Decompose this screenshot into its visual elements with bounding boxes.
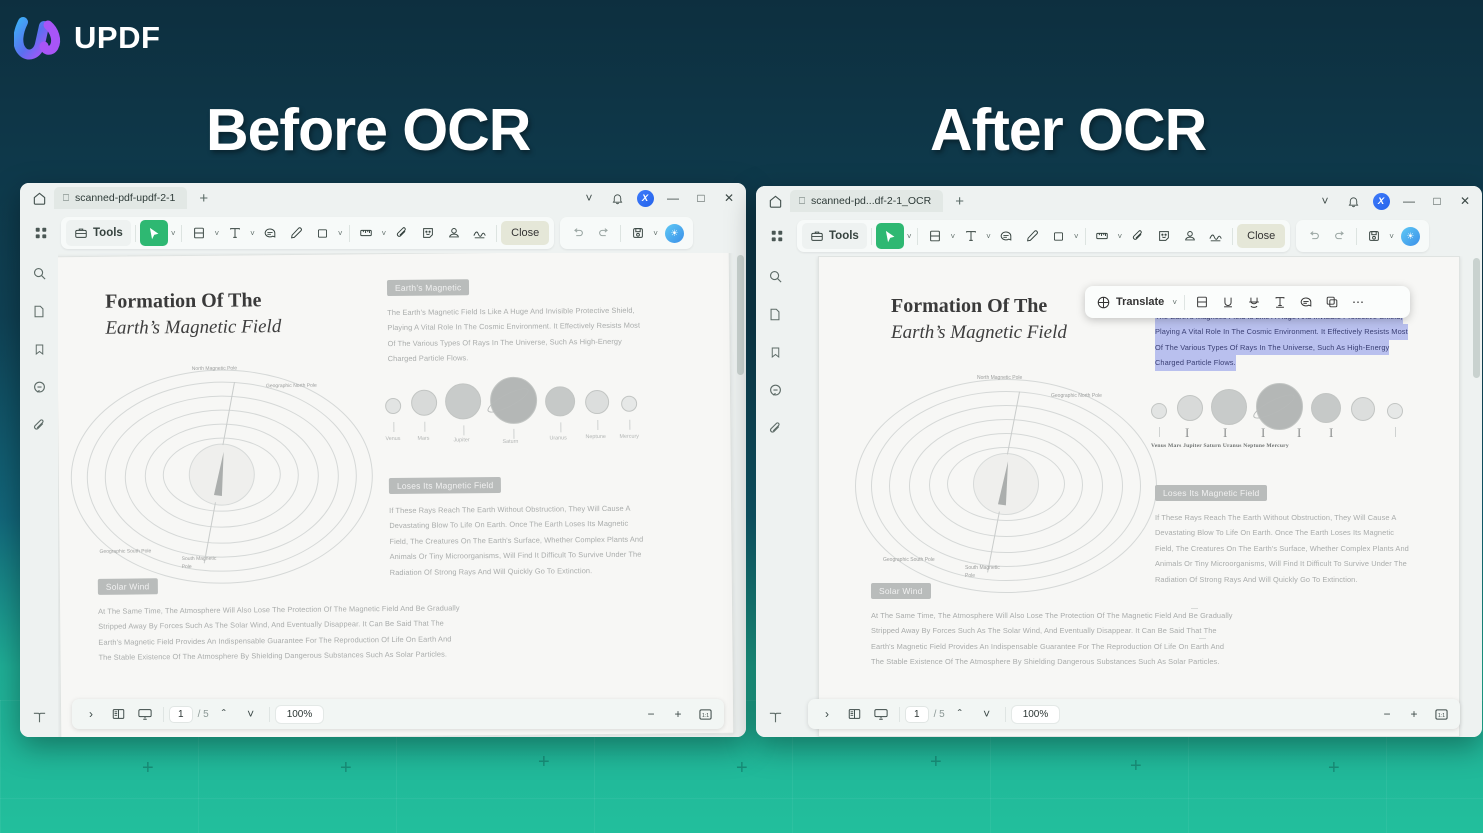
planet-label: Jupiter bbox=[453, 437, 469, 443]
window-controls: ˅ X — □ ✕ bbox=[1312, 189, 1478, 213]
planet-label: Mercury bbox=[619, 434, 639, 440]
strikethrough-button[interactable] bbox=[1242, 290, 1266, 314]
doc-title-line1: Formation Of The bbox=[891, 295, 1067, 318]
stamp-tool-button[interactable] bbox=[1177, 223, 1202, 249]
page-number-input[interactable]: 1 bbox=[906, 707, 928, 722]
measure-tool-button[interactable] bbox=[1090, 223, 1115, 249]
section-badge: Loses Its Magnetic Field bbox=[389, 477, 502, 494]
toolbar-group-actions: ˅ ☀ bbox=[560, 217, 693, 249]
headline-after: After OCR bbox=[930, 96, 1206, 164]
chevron-down-icon[interactable]: ˅ bbox=[380, 229, 389, 238]
close-button[interactable]: ✕ bbox=[1452, 189, 1478, 213]
sidebar-item-search[interactable] bbox=[28, 263, 50, 283]
text-tool-button[interactable] bbox=[958, 223, 983, 249]
brand-logo: UPDF bbox=[14, 16, 160, 60]
save-button[interactable] bbox=[625, 220, 650, 246]
section-body-highlighted[interactable]: The Earth's Magnetic Field Is Like A Hug… bbox=[1155, 309, 1417, 371]
zoom-in-button[interactable]: + bbox=[1402, 703, 1426, 725]
comment-tool-button[interactable] bbox=[994, 223, 1019, 249]
text-selection-toolbar: Translate ˅ bbox=[1085, 286, 1410, 318]
page-total: / 5 bbox=[198, 709, 209, 720]
grid-plus-marker: + bbox=[1130, 756, 1142, 776]
zoom-out-button[interactable]: − bbox=[639, 703, 663, 725]
chevron-down-icon[interactable]: ˅ bbox=[1072, 232, 1081, 241]
undo-button[interactable] bbox=[1301, 223, 1326, 249]
cursor-tool-button[interactable] bbox=[876, 223, 904, 249]
sidebar-item-thumbnails[interactable] bbox=[28, 301, 50, 321]
updf-window-before: ⎕ scanned-pdf-updf-2-1 + ˅ X — □ ✕ bbox=[20, 183, 746, 737]
shape-tool-button[interactable] bbox=[310, 220, 335, 246]
doc-title: Formation Of The Earth’s Magnetic Field bbox=[891, 295, 1067, 344]
pen-tool-button[interactable] bbox=[284, 220, 309, 246]
section-body: If These Rays Reach The Earth Without Ob… bbox=[389, 501, 652, 580]
section-badge: Solar Wind bbox=[98, 578, 158, 595]
left-sidebar bbox=[756, 256, 794, 737]
document-tab[interactable]: ⎕ scanned-pdf-updf-2-1 bbox=[54, 187, 187, 209]
window-controls: ˅ X — □ ✕ bbox=[576, 186, 742, 210]
header-footer-button[interactable] bbox=[186, 220, 211, 246]
doc-title: Formation Of The Earth’s Magnetic Field bbox=[105, 289, 281, 340]
new-tab-button[interactable]: + bbox=[199, 190, 208, 207]
doc-title-line2: Earth’s Magnetic Field bbox=[105, 316, 281, 340]
chevron-down-icon[interactable]: ˅ bbox=[212, 229, 221, 238]
ocr-marker: — bbox=[1199, 635, 1206, 642]
chevron-down-icon[interactable]: ˅ bbox=[651, 229, 660, 238]
label-geographic-south-pole: Geographic South Pole bbox=[883, 557, 939, 565]
notification-bell-icon[interactable] bbox=[604, 186, 630, 210]
tab-title: scanned-pd...df-2-1_OCR bbox=[811, 195, 931, 207]
undo-button[interactable] bbox=[565, 220, 590, 246]
minimize-button[interactable]: — bbox=[1396, 189, 1422, 213]
planet-label: Neptune bbox=[585, 434, 605, 440]
main-toolbar: Tools ˅ ˅ ˅ bbox=[20, 213, 746, 253]
close-tools-button[interactable]: Close bbox=[501, 221, 549, 245]
document-tab[interactable]: ⎕ scanned-pd...df-2-1_OCR bbox=[790, 190, 943, 212]
grid-plus-marker: + bbox=[736, 758, 748, 778]
section-solar-wind: Solar Wind At The Same Time, The Atmosph… bbox=[98, 571, 659, 665]
maximize-button[interactable]: □ bbox=[1424, 189, 1450, 213]
planet-label: Uranus bbox=[549, 435, 566, 441]
window-titlebar: ⎕ scanned-pdf-updf-2-1 + ˅ X — □ ✕ bbox=[20, 183, 746, 213]
tools-button[interactable]: Tools bbox=[66, 220, 131, 246]
user-avatar[interactable]: X bbox=[1368, 189, 1394, 213]
signature-tool-button[interactable] bbox=[467, 220, 492, 246]
chevron-down-icon[interactable]: ˅ bbox=[336, 229, 345, 238]
fit-actual-size-button[interactable]: 1:1 bbox=[1429, 703, 1453, 725]
updf-logo-u-icon bbox=[14, 16, 62, 60]
document-viewport[interactable]: Formation Of The Earth’s Magnetic Field … bbox=[794, 256, 1482, 737]
ocr-text-cursor-icon: I bbox=[1223, 425, 1227, 441]
zoom-level[interactable]: 100% bbox=[276, 706, 324, 723]
sidebar-item-bookmark[interactable] bbox=[764, 342, 786, 362]
close-button[interactable]: ✕ bbox=[716, 186, 742, 210]
chevron-down-icon[interactable]: ˅ bbox=[576, 186, 602, 210]
home-icon[interactable] bbox=[760, 187, 790, 215]
status-bar: › 1 / 5 ˆ ˅ 100% − + 1:1 bbox=[72, 699, 724, 729]
expand-panel-button[interactable]: › bbox=[79, 703, 103, 725]
home-icon[interactable] bbox=[24, 184, 54, 212]
shape-tool-button[interactable] bbox=[1046, 223, 1071, 249]
svg-text:1:1: 1:1 bbox=[1437, 712, 1444, 718]
tools-label: Tools bbox=[93, 227, 123, 239]
document-viewport[interactable]: Formation Of The Earth’s Magnetic Field … bbox=[58, 253, 746, 737]
chevron-down-icon[interactable]: ˅ bbox=[1312, 189, 1338, 213]
notification-bell-icon[interactable] bbox=[1340, 189, 1366, 213]
section-badge: Loses Its Magnetic Field bbox=[1155, 485, 1267, 501]
sticker-tool-button[interactable] bbox=[415, 220, 440, 246]
section-solar-wind: Solar Wind At The Same Time, The Atmosph… bbox=[871, 581, 1431, 670]
attachment-tool-button[interactable] bbox=[1125, 223, 1150, 249]
pdf-page-ocr: Formation Of The Earth’s Magnetic Field … bbox=[818, 256, 1460, 737]
section-badge: Earth’s Magnetic bbox=[387, 279, 470, 296]
label-south-magnetic-pole: South Magnetic Pole bbox=[182, 556, 226, 571]
label-south-magnetic-pole: South Magnetic Pole bbox=[965, 565, 1009, 580]
chevron-down-icon[interactable]: ˅ bbox=[1387, 232, 1396, 241]
ocr-text-cursor-icon: I bbox=[1329, 425, 1333, 441]
underline-button[interactable] bbox=[1216, 290, 1240, 314]
section-earths-magnetic-selected[interactable]: The Earth's Magnetic Field Is Like A Hug… bbox=[1155, 309, 1417, 371]
chevron-down-icon[interactable]: ˅ bbox=[248, 229, 257, 238]
close-label: Close bbox=[1247, 230, 1275, 242]
previous-page-button[interactable]: ˆ bbox=[212, 703, 236, 725]
vertical-scrollbar[interactable] bbox=[737, 255, 744, 735]
section-body: At The Same Time, The Atmosphere Will Al… bbox=[871, 608, 1431, 670]
grid-icon[interactable] bbox=[763, 229, 791, 243]
redo-button[interactable] bbox=[591, 220, 616, 246]
cursor-tool-button[interactable] bbox=[140, 220, 168, 246]
updf-window-after: ⎕ scanned-pd...df-2-1_OCR + ˅ X — □ ✕ bbox=[756, 186, 1482, 737]
section-body: If These Rays Reach The Earth Without Ob… bbox=[1155, 510, 1417, 587]
scrollbar-thumb[interactable] bbox=[737, 255, 744, 375]
sidebar-item-bookmark[interactable] bbox=[28, 339, 50, 359]
page-number-input[interactable]: 1 bbox=[170, 707, 192, 722]
copy-button[interactable] bbox=[1320, 290, 1344, 314]
presentation-mode-icon[interactable] bbox=[869, 703, 893, 725]
signature-tool-button[interactable] bbox=[1203, 223, 1228, 249]
left-sidebar bbox=[20, 253, 58, 737]
section-body: The Earth's Magnetic Field Is Like A Hug… bbox=[387, 303, 650, 367]
section-badge: Solar Wind bbox=[871, 583, 931, 599]
planets-ocr-label: Venus Mars Jupiter Saturn Uranus Neptune… bbox=[1151, 443, 1289, 449]
close-tools-button[interactable]: Close bbox=[1237, 224, 1285, 248]
comment-button[interactable] bbox=[1294, 290, 1318, 314]
tab-title: scanned-pdf-updf-2-1 bbox=[75, 192, 175, 204]
minimize-button[interactable]: — bbox=[660, 186, 686, 210]
ocr-text-cursor-icon: I bbox=[1261, 425, 1265, 441]
scrollbar-thumb[interactable] bbox=[1473, 258, 1480, 378]
chevron-down-icon[interactable]: ˅ bbox=[169, 229, 178, 238]
close-label: Close bbox=[511, 227, 539, 239]
more-options-button[interactable]: ⋯ bbox=[1346, 290, 1370, 314]
label-geographic-south-pole: Geographic South Pole bbox=[100, 548, 156, 556]
label-geographic-north-pole: Geographic North Pole bbox=[1051, 393, 1113, 401]
translate-label: Translate bbox=[1116, 296, 1164, 308]
zoom-in-button[interactable]: + bbox=[666, 703, 690, 725]
ocr-marker: — bbox=[1191, 605, 1198, 612]
ocr-text-cursor-icon: I bbox=[1297, 425, 1301, 441]
ai-icon: ☀ bbox=[1401, 227, 1420, 246]
window-body: Formation Of The Earth’s Magnetic Field … bbox=[20, 253, 746, 737]
section-body: At The Same Time, The Atmosphere Will Al… bbox=[98, 598, 659, 665]
attachment-tool-button[interactable] bbox=[389, 220, 414, 246]
pdf-page-scanned: Formation Of The Earth’s Magnetic Field … bbox=[58, 253, 734, 737]
toolbar-group-main: Tools ˅ ˅ ˅ bbox=[61, 217, 554, 249]
grid-plus-marker: + bbox=[340, 758, 352, 778]
ai-assistant-button[interactable]: ☀ bbox=[661, 220, 688, 246]
planet-label: Saturn bbox=[502, 439, 518, 445]
vertical-scrollbar[interactable] bbox=[1473, 258, 1480, 735]
sidebar-item-reading-mode[interactable] bbox=[28, 707, 50, 727]
page-layout-icon[interactable] bbox=[106, 703, 130, 725]
brand-name: UPDF bbox=[74, 20, 160, 56]
tools-label: Tools bbox=[829, 230, 859, 242]
previous-page-button[interactable]: ˆ bbox=[948, 703, 972, 725]
planets-diagram: I I I I I Venus Mars Jupiter Saturn Uran… bbox=[1149, 381, 1421, 459]
planets-diagram: Venus Mars Jupiter Saturn Uranus Neptune… bbox=[383, 374, 656, 455]
new-tab-button[interactable]: + bbox=[955, 193, 964, 210]
sidebar-item-comments[interactable] bbox=[764, 380, 786, 400]
sidebar-item-comments[interactable] bbox=[28, 377, 50, 397]
sidebar-item-attachments[interactable] bbox=[28, 415, 50, 435]
grid-plus-marker: + bbox=[142, 758, 154, 778]
status-bar: › 1 / 5 ˆ ˅ 100% − + 1:1 bbox=[808, 699, 1460, 729]
page-layout-icon[interactable] bbox=[842, 703, 866, 725]
ai-assistant-button[interactable]: ☀ bbox=[1397, 223, 1424, 249]
main-toolbar: Tools ˅ ˅ ˅ bbox=[756, 216, 1482, 256]
sticker-tool-button[interactable] bbox=[1151, 223, 1176, 249]
ai-icon: ☀ bbox=[665, 224, 684, 243]
fit-actual-size-button[interactable]: 1:1 bbox=[693, 703, 717, 725]
doc-title-line2: Earth’s Magnetic Field bbox=[891, 322, 1067, 344]
planet-label: Venus bbox=[385, 436, 400, 442]
toolbar-group-actions: ˅ ☀ bbox=[1296, 220, 1429, 252]
grid-plus-marker: + bbox=[1328, 758, 1340, 778]
maximize-button[interactable]: □ bbox=[688, 186, 714, 210]
sidebar-item-reading-mode[interactable] bbox=[764, 707, 786, 727]
section-loses-magnetic-field: Loses Its Magnetic Field If These Rays R… bbox=[1155, 483, 1417, 587]
chevron-down-icon[interactable]: ˅ bbox=[1116, 232, 1125, 241]
grid-icon[interactable] bbox=[27, 226, 55, 240]
sidebar-item-thumbnails[interactable] bbox=[764, 304, 786, 324]
expand-panel-button[interactable]: › bbox=[815, 703, 839, 725]
window-titlebar: ⎕ scanned-pd...df-2-1_OCR + ˅ X — □ ✕ bbox=[756, 186, 1482, 216]
page-total: / 5 bbox=[934, 709, 945, 720]
redo-button[interactable] bbox=[1327, 223, 1352, 249]
section-earths-magnetic: Earth’s Magnetic The Earth's Magnetic Fi… bbox=[387, 276, 650, 367]
text-edit-button[interactable] bbox=[1268, 290, 1292, 314]
label-north-magnetic-pole: North Magnetic Pole bbox=[192, 366, 237, 374]
next-page-button[interactable]: ˅ bbox=[975, 703, 999, 725]
highlight-button[interactable] bbox=[1190, 290, 1214, 314]
toolbar-group-main: Tools ˅ ˅ ˅ bbox=[797, 220, 1290, 252]
translate-button[interactable]: Translate bbox=[1094, 290, 1168, 314]
chevron-down-icon[interactable]: ˅ bbox=[1170, 298, 1179, 307]
comment-tool-button[interactable] bbox=[258, 220, 283, 246]
sidebar-item-attachments[interactable] bbox=[764, 418, 786, 438]
zoom-level[interactable]: 100% bbox=[1012, 706, 1060, 723]
magnetic-field-diagram: North Magnetic Pole Geographic North Pol… bbox=[80, 364, 372, 582]
tab-document-icon: ⎕ bbox=[799, 196, 805, 207]
grid-plus-marker: + bbox=[930, 752, 942, 772]
planet-label: Mars bbox=[417, 436, 429, 442]
save-button[interactable] bbox=[1361, 223, 1386, 249]
next-page-button[interactable]: ˅ bbox=[239, 703, 263, 725]
stamp-tool-button[interactable] bbox=[441, 220, 466, 246]
sidebar-item-search[interactable] bbox=[764, 266, 786, 286]
magnetic-field-diagram: North Magnetic Pole Geographic North Pol… bbox=[865, 375, 1155, 590]
user-avatar[interactable]: X bbox=[632, 186, 658, 210]
pen-tool-button[interactable] bbox=[1020, 223, 1045, 249]
doc-title-line1: Formation Of The bbox=[105, 289, 281, 314]
label-north-magnetic-pole: North Magnetic Pole bbox=[977, 375, 1022, 383]
section-loses-magnetic-field: Loses Its Magnetic Field If These Rays R… bbox=[389, 474, 652, 580]
window-body: Formation Of The Earth’s Magnetic Field … bbox=[756, 256, 1482, 737]
presentation-mode-icon[interactable] bbox=[133, 703, 157, 725]
zoom-out-button[interactable]: − bbox=[1375, 703, 1399, 725]
measure-tool-button[interactable] bbox=[354, 220, 379, 246]
grid-plus-marker: + bbox=[538, 752, 550, 772]
chevron-down-icon[interactable]: ˅ bbox=[905, 232, 914, 241]
chevron-down-icon[interactable]: ˅ bbox=[948, 232, 957, 241]
tools-button[interactable]: Tools bbox=[802, 223, 867, 249]
svg-text:1:1: 1:1 bbox=[701, 712, 708, 718]
text-tool-button[interactable] bbox=[222, 220, 247, 246]
ocr-text-cursor-icon: I bbox=[1185, 425, 1189, 441]
tab-document-icon: ⎕ bbox=[63, 193, 69, 204]
chevron-down-icon[interactable]: ˅ bbox=[984, 232, 993, 241]
label-geographic-north-pole: Geographic North Pole bbox=[266, 383, 328, 391]
header-footer-button[interactable] bbox=[922, 223, 947, 249]
headline-before: Before OCR bbox=[206, 96, 530, 164]
